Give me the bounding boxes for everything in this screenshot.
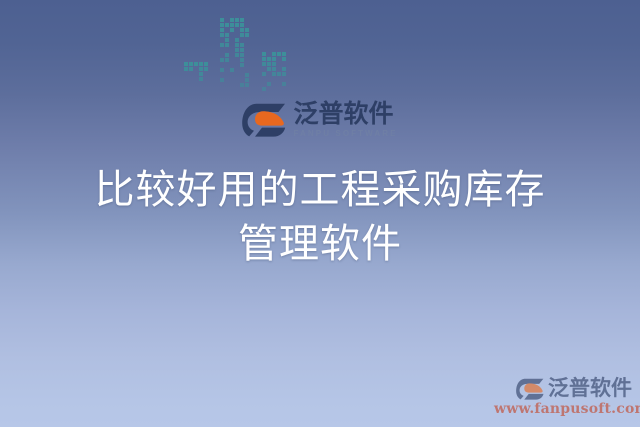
brand-wordmark: 泛普软件 FANPU SOFTWARE xyxy=(293,101,397,139)
watermark-logo-row: 泛普软件 xyxy=(494,377,632,400)
page-title: 比较好用的工程采购库存 管理软件 xyxy=(50,163,590,271)
watermark: 泛普软件 www.fanpusoft.com xyxy=(494,377,632,418)
watermark-name-cn: 泛普软件 xyxy=(548,377,632,400)
brand-lockup: 泛普软件 FANPU SOFTWARE xyxy=(0,97,640,143)
pixel-skyline-decoration xyxy=(184,18,288,96)
brand-name-en: FANPU SOFTWARE xyxy=(293,128,397,139)
promo-banner: 泛普软件 FANPU SOFTWARE 比较好用的工程采购库存 管理软件 泛普软… xyxy=(0,0,640,427)
fanpu-logo-mark-icon xyxy=(242,103,286,137)
page-title-line-1: 比较好用的工程采购库存 xyxy=(50,163,590,217)
watermark-url: www.fanpusoft.com xyxy=(494,401,632,418)
watermark-logo-mark-icon xyxy=(516,378,544,400)
page-title-line-2: 管理软件 xyxy=(50,217,590,271)
brand-name-cn: 泛普软件 xyxy=(293,101,397,127)
